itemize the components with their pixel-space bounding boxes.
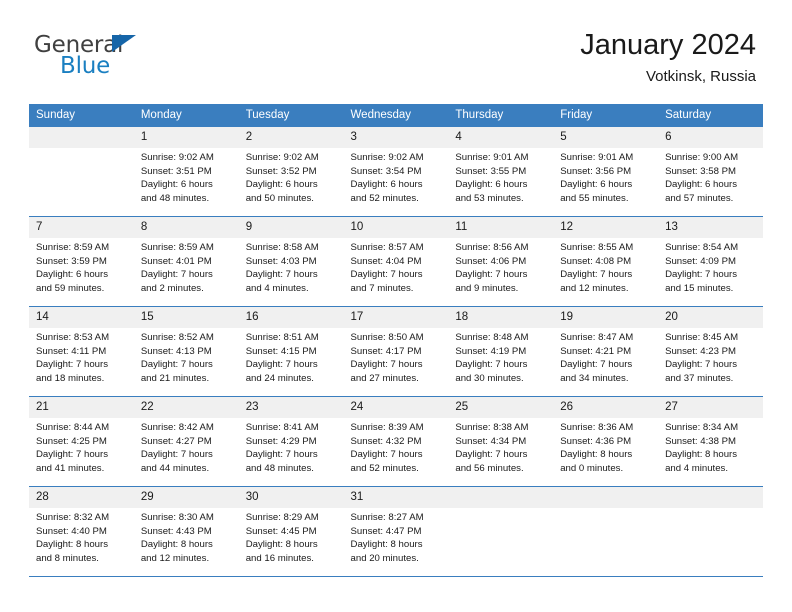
sun-info-line: and 4 minutes. bbox=[665, 462, 757, 476]
sun-info-line: Sunrise: 9:02 AM bbox=[246, 151, 338, 165]
day-cell-content: 31Sunrise: 8:27 AMSunset: 4:47 PMDayligh… bbox=[344, 487, 449, 575]
day-cell-content: 27Sunrise: 8:34 AMSunset: 4:38 PMDayligh… bbox=[658, 397, 763, 485]
calendar-day-cell bbox=[448, 487, 553, 577]
calendar-day-cell[interactable]: 28Sunrise: 8:32 AMSunset: 4:40 PMDayligh… bbox=[29, 487, 134, 577]
sun-info: Sunrise: 9:02 AMSunset: 3:51 PMDaylight:… bbox=[134, 148, 239, 205]
weekday-header-sunday: Sunday bbox=[29, 104, 134, 127]
calendar-day-cell[interactable]: 9Sunrise: 8:58 AMSunset: 4:03 PMDaylight… bbox=[239, 217, 344, 307]
day-number bbox=[658, 487, 763, 508]
sun-info-line: Daylight: 6 hours bbox=[36, 268, 128, 282]
sun-info-line: Sunrise: 8:51 AM bbox=[246, 331, 338, 345]
weekday-header-monday: Monday bbox=[134, 104, 239, 127]
sun-info-line: Sunrise: 9:01 AM bbox=[560, 151, 652, 165]
sun-info-line: and 48 minutes. bbox=[246, 462, 338, 476]
day-cell-content: 21Sunrise: 8:44 AMSunset: 4:25 PMDayligh… bbox=[29, 397, 134, 485]
day-number: 13 bbox=[658, 217, 763, 238]
sun-info-line: Sunset: 4:03 PM bbox=[246, 255, 338, 269]
sun-info: Sunrise: 8:48 AMSunset: 4:19 PMDaylight:… bbox=[448, 328, 553, 385]
sun-info-line: Sunset: 4:45 PM bbox=[246, 525, 338, 539]
day-number: 24 bbox=[344, 397, 449, 418]
page-title: January 2024 bbox=[580, 28, 756, 62]
day-number: 22 bbox=[134, 397, 239, 418]
sun-info-line: and 4 minutes. bbox=[246, 282, 338, 296]
day-cell-content: 6Sunrise: 9:00 AMSunset: 3:58 PMDaylight… bbox=[658, 127, 763, 215]
calendar-week-row: 28Sunrise: 8:32 AMSunset: 4:40 PMDayligh… bbox=[29, 487, 763, 577]
calendar-day-cell[interactable]: 23Sunrise: 8:41 AMSunset: 4:29 PMDayligh… bbox=[239, 397, 344, 487]
logo-text-blue: Blue bbox=[60, 53, 110, 79]
calendar-day-cell[interactable]: 12Sunrise: 8:55 AMSunset: 4:08 PMDayligh… bbox=[553, 217, 658, 307]
sun-info-line: Sunset: 3:54 PM bbox=[351, 165, 443, 179]
sun-info-line: Sunset: 4:19 PM bbox=[455, 345, 547, 359]
sun-info-line: and 48 minutes. bbox=[141, 192, 233, 206]
sun-info: Sunrise: 8:32 AMSunset: 4:40 PMDaylight:… bbox=[29, 508, 134, 565]
sun-info-line: Daylight: 7 hours bbox=[455, 358, 547, 372]
sun-info-line: Sunrise: 9:02 AM bbox=[351, 151, 443, 165]
calendar-day-cell[interactable]: 8Sunrise: 8:59 AMSunset: 4:01 PMDaylight… bbox=[134, 217, 239, 307]
sun-info-line: Daylight: 7 hours bbox=[36, 358, 128, 372]
sun-info-line: Sunset: 4:17 PM bbox=[351, 345, 443, 359]
calendar-day-cell[interactable]: 7Sunrise: 8:59 AMSunset: 3:59 PMDaylight… bbox=[29, 217, 134, 307]
sun-info: Sunrise: 8:59 AMSunset: 3:59 PMDaylight:… bbox=[29, 238, 134, 295]
sun-info-line: Daylight: 7 hours bbox=[141, 268, 233, 282]
day-number: 3 bbox=[344, 127, 449, 148]
day-number bbox=[448, 487, 553, 508]
sun-info-line: Daylight: 7 hours bbox=[36, 448, 128, 462]
logo-triangle-icon bbox=[112, 35, 136, 52]
sun-info-line: Sunrise: 8:32 AM bbox=[36, 511, 128, 525]
day-number: 19 bbox=[553, 307, 658, 328]
day-cell-content: 16Sunrise: 8:51 AMSunset: 4:15 PMDayligh… bbox=[239, 307, 344, 395]
sun-info-line: Daylight: 7 hours bbox=[246, 448, 338, 462]
day-cell-content: 5Sunrise: 9:01 AMSunset: 3:56 PMDaylight… bbox=[553, 127, 658, 215]
calendar-day-cell[interactable]: 29Sunrise: 8:30 AMSunset: 4:43 PMDayligh… bbox=[134, 487, 239, 577]
sun-info: Sunrise: 8:45 AMSunset: 4:23 PMDaylight:… bbox=[658, 328, 763, 385]
sun-info: Sunrise: 8:57 AMSunset: 4:04 PMDaylight:… bbox=[344, 238, 449, 295]
page-header: General Blue January 2024 Votkinsk, Russ… bbox=[0, 0, 792, 96]
sun-info: Sunrise: 8:29 AMSunset: 4:45 PMDaylight:… bbox=[239, 508, 344, 565]
sun-info: Sunrise: 8:42 AMSunset: 4:27 PMDaylight:… bbox=[134, 418, 239, 475]
sun-info-line: Sunrise: 8:56 AM bbox=[455, 241, 547, 255]
sun-info-line: Sunset: 4:32 PM bbox=[351, 435, 443, 449]
sun-info-line: Sunset: 4:09 PM bbox=[665, 255, 757, 269]
sun-info-line: Sunset: 4:11 PM bbox=[36, 345, 128, 359]
day-number: 26 bbox=[553, 397, 658, 418]
calendar-day-cell[interactable]: 31Sunrise: 8:27 AMSunset: 4:47 PMDayligh… bbox=[344, 487, 449, 577]
sun-info-line: and 15 minutes. bbox=[665, 282, 757, 296]
day-number: 4 bbox=[448, 127, 553, 148]
day-cell-content: 11Sunrise: 8:56 AMSunset: 4:06 PMDayligh… bbox=[448, 217, 553, 305]
sun-info-line: and 34 minutes. bbox=[560, 372, 652, 386]
sun-info-line: and 30 minutes. bbox=[455, 372, 547, 386]
day-cell-content: 23Sunrise: 8:41 AMSunset: 4:29 PMDayligh… bbox=[239, 397, 344, 485]
calendar-day-cell[interactable]: 15Sunrise: 8:52 AMSunset: 4:13 PMDayligh… bbox=[134, 307, 239, 397]
calendar-table: Sunday Monday Tuesday Wednesday Thursday… bbox=[29, 104, 763, 577]
calendar-day-cell bbox=[658, 487, 763, 577]
sun-info-line: Daylight: 7 hours bbox=[665, 268, 757, 282]
sun-info: Sunrise: 9:01 AMSunset: 3:55 PMDaylight:… bbox=[448, 148, 553, 205]
calendar-day-cell[interactable]: 4Sunrise: 9:01 AMSunset: 3:55 PMDaylight… bbox=[448, 127, 553, 217]
calendar-day-cell[interactable]: 11Sunrise: 8:56 AMSunset: 4:06 PMDayligh… bbox=[448, 217, 553, 307]
sun-info-line: Sunset: 4:34 PM bbox=[455, 435, 547, 449]
sun-info-line: Daylight: 6 hours bbox=[246, 178, 338, 192]
sun-info-line: Sunset: 4:40 PM bbox=[36, 525, 128, 539]
calendar-day-cell[interactable]: 27Sunrise: 8:34 AMSunset: 4:38 PMDayligh… bbox=[658, 397, 763, 487]
day-number: 16 bbox=[239, 307, 344, 328]
day-cell-content: 13Sunrise: 8:54 AMSunset: 4:09 PMDayligh… bbox=[658, 217, 763, 305]
calendar-day-cell[interactable]: 1Sunrise: 9:02 AMSunset: 3:51 PMDaylight… bbox=[134, 127, 239, 217]
sun-info-line: Sunset: 4:13 PM bbox=[141, 345, 233, 359]
sun-info-line: Daylight: 8 hours bbox=[246, 538, 338, 552]
sun-info-line: and 52 minutes. bbox=[351, 462, 443, 476]
calendar-week-row: 14Sunrise: 8:53 AMSunset: 4:11 PMDayligh… bbox=[29, 307, 763, 397]
day-number: 7 bbox=[29, 217, 134, 238]
sun-info: Sunrise: 8:53 AMSunset: 4:11 PMDaylight:… bbox=[29, 328, 134, 385]
sun-info-line: Sunrise: 8:50 AM bbox=[351, 331, 443, 345]
sun-info-line: and 59 minutes. bbox=[36, 282, 128, 296]
sun-info-line: Daylight: 7 hours bbox=[560, 268, 652, 282]
sun-info-line: Sunset: 4:25 PM bbox=[36, 435, 128, 449]
calendar-day-cell[interactable]: 18Sunrise: 8:48 AMSunset: 4:19 PMDayligh… bbox=[448, 307, 553, 397]
sun-info: Sunrise: 8:58 AMSunset: 4:03 PMDaylight:… bbox=[239, 238, 344, 295]
day-cell-content: 3Sunrise: 9:02 AMSunset: 3:54 PMDaylight… bbox=[344, 127, 449, 215]
sun-info-line: Sunrise: 8:48 AM bbox=[455, 331, 547, 345]
day-number: 20 bbox=[658, 307, 763, 328]
sun-info-line: Sunset: 4:38 PM bbox=[665, 435, 757, 449]
day-number: 21 bbox=[29, 397, 134, 418]
sun-info-line: Sunset: 3:59 PM bbox=[36, 255, 128, 269]
day-cell-content: 29Sunrise: 8:30 AMSunset: 4:43 PMDayligh… bbox=[134, 487, 239, 575]
day-number: 2 bbox=[239, 127, 344, 148]
sun-info-line: Sunset: 3:52 PM bbox=[246, 165, 338, 179]
sun-info-line: and 41 minutes. bbox=[36, 462, 128, 476]
calendar-day-cell[interactable]: 5Sunrise: 9:01 AMSunset: 3:56 PMDaylight… bbox=[553, 127, 658, 217]
day-cell-content: 12Sunrise: 8:55 AMSunset: 4:08 PMDayligh… bbox=[553, 217, 658, 305]
day-cell-content: 20Sunrise: 8:45 AMSunset: 4:23 PMDayligh… bbox=[658, 307, 763, 395]
calendar-day-cell[interactable]: 24Sunrise: 8:39 AMSunset: 4:32 PMDayligh… bbox=[344, 397, 449, 487]
sun-info: Sunrise: 8:50 AMSunset: 4:17 PMDaylight:… bbox=[344, 328, 449, 385]
sun-info-line: Sunrise: 8:52 AM bbox=[141, 331, 233, 345]
sun-info-line: Sunrise: 8:58 AM bbox=[246, 241, 338, 255]
sun-info-line: and 44 minutes. bbox=[141, 462, 233, 476]
sun-info-line: Sunrise: 8:42 AM bbox=[141, 421, 233, 435]
sun-info-line: Daylight: 6 hours bbox=[351, 178, 443, 192]
sun-info: Sunrise: 8:55 AMSunset: 4:08 PMDaylight:… bbox=[553, 238, 658, 295]
sun-info-line: Sunset: 3:58 PM bbox=[665, 165, 757, 179]
sun-info-line: Sunrise: 9:01 AM bbox=[455, 151, 547, 165]
calendar-day-cell bbox=[29, 127, 134, 217]
sun-info-line: Sunrise: 8:27 AM bbox=[351, 511, 443, 525]
sun-info-line: Sunrise: 8:30 AM bbox=[141, 511, 233, 525]
calendar-day-cell[interactable]: 19Sunrise: 8:47 AMSunset: 4:21 PMDayligh… bbox=[553, 307, 658, 397]
title-block: January 2024 Votkinsk, Russia bbox=[580, 28, 756, 87]
calendar-day-cell[interactable]: 13Sunrise: 8:54 AMSunset: 4:09 PMDayligh… bbox=[658, 217, 763, 307]
day-cell-content: 8Sunrise: 8:59 AMSunset: 4:01 PMDaylight… bbox=[134, 217, 239, 305]
calendar-day-cell[interactable]: 16Sunrise: 8:51 AMSunset: 4:15 PMDayligh… bbox=[239, 307, 344, 397]
calendar-day-cell[interactable]: 14Sunrise: 8:53 AMSunset: 4:11 PMDayligh… bbox=[29, 307, 134, 397]
day-cell-content: 30Sunrise: 8:29 AMSunset: 4:45 PMDayligh… bbox=[239, 487, 344, 575]
sun-info-line: Sunrise: 8:38 AM bbox=[455, 421, 547, 435]
day-number: 5 bbox=[553, 127, 658, 148]
sun-info-line: and 20 minutes. bbox=[351, 552, 443, 566]
day-cell-content: 9Sunrise: 8:58 AMSunset: 4:03 PMDaylight… bbox=[239, 217, 344, 305]
sun-info-line: Daylight: 7 hours bbox=[351, 358, 443, 372]
sun-info-line: Sunrise: 9:02 AM bbox=[141, 151, 233, 165]
sun-info-line: Sunset: 4:36 PM bbox=[560, 435, 652, 449]
sun-info-line: Sunset: 4:15 PM bbox=[246, 345, 338, 359]
sun-info-line: Daylight: 6 hours bbox=[455, 178, 547, 192]
sun-info-line: Sunset: 4:43 PM bbox=[141, 525, 233, 539]
sun-info-line: Daylight: 8 hours bbox=[141, 538, 233, 552]
calendar-day-cell[interactable]: 22Sunrise: 8:42 AMSunset: 4:27 PMDayligh… bbox=[134, 397, 239, 487]
sun-info: Sunrise: 8:41 AMSunset: 4:29 PMDaylight:… bbox=[239, 418, 344, 475]
calendar-week-row: 7Sunrise: 8:59 AMSunset: 3:59 PMDaylight… bbox=[29, 217, 763, 307]
day-number: 9 bbox=[239, 217, 344, 238]
sun-info-line: and 53 minutes. bbox=[455, 192, 547, 206]
day-cell-content: 7Sunrise: 8:59 AMSunset: 3:59 PMDaylight… bbox=[29, 217, 134, 305]
sun-info-line: Sunset: 4:06 PM bbox=[455, 255, 547, 269]
sun-info-line: and 16 minutes. bbox=[246, 552, 338, 566]
sun-info-line: Sunrise: 8:44 AM bbox=[36, 421, 128, 435]
weekday-header-friday: Friday bbox=[553, 104, 658, 127]
sun-info-line: Sunset: 4:01 PM bbox=[141, 255, 233, 269]
calendar-day-cell[interactable]: 17Sunrise: 8:50 AMSunset: 4:17 PMDayligh… bbox=[344, 307, 449, 397]
day-number: 15 bbox=[134, 307, 239, 328]
sun-info-line: Sunrise: 9:00 AM bbox=[665, 151, 757, 165]
sun-info: Sunrise: 9:02 AMSunset: 3:52 PMDaylight:… bbox=[239, 148, 344, 205]
sun-info: Sunrise: 8:27 AMSunset: 4:47 PMDaylight:… bbox=[344, 508, 449, 565]
weekday-header-saturday: Saturday bbox=[658, 104, 763, 127]
day-cell-content: 10Sunrise: 8:57 AMSunset: 4:04 PMDayligh… bbox=[344, 217, 449, 305]
sun-info-line: and 8 minutes. bbox=[36, 552, 128, 566]
sun-info-line: Daylight: 7 hours bbox=[246, 268, 338, 282]
sun-info-line: Sunrise: 8:55 AM bbox=[560, 241, 652, 255]
sun-info-line: and 12 minutes. bbox=[560, 282, 652, 296]
day-number: 28 bbox=[29, 487, 134, 508]
sun-info-line: Sunrise: 8:57 AM bbox=[351, 241, 443, 255]
sun-info-line: Sunrise: 8:34 AM bbox=[665, 421, 757, 435]
sun-info-line: Daylight: 7 hours bbox=[560, 358, 652, 372]
sun-info-line: and 21 minutes. bbox=[141, 372, 233, 386]
day-cell-content bbox=[658, 487, 763, 575]
sun-info-line: Sunset: 4:08 PM bbox=[560, 255, 652, 269]
sun-info-line: Daylight: 8 hours bbox=[36, 538, 128, 552]
day-number: 18 bbox=[448, 307, 553, 328]
day-number: 25 bbox=[448, 397, 553, 418]
calendar-week-row: 21Sunrise: 8:44 AMSunset: 4:25 PMDayligh… bbox=[29, 397, 763, 487]
sun-info-line: Sunset: 4:29 PM bbox=[246, 435, 338, 449]
sun-info-line: and 52 minutes. bbox=[351, 192, 443, 206]
calendar-day-cell[interactable]: 30Sunrise: 8:29 AMSunset: 4:45 PMDayligh… bbox=[239, 487, 344, 577]
day-number: 1 bbox=[134, 127, 239, 148]
day-cell-content: 4Sunrise: 9:01 AMSunset: 3:55 PMDaylight… bbox=[448, 127, 553, 215]
sun-info-line: Daylight: 8 hours bbox=[351, 538, 443, 552]
day-cell-content bbox=[553, 487, 658, 575]
sun-info: Sunrise: 8:34 AMSunset: 4:38 PMDaylight:… bbox=[658, 418, 763, 475]
day-number: 10 bbox=[344, 217, 449, 238]
day-number: 31 bbox=[344, 487, 449, 508]
sun-info-line: and 55 minutes. bbox=[560, 192, 652, 206]
sun-info-line: Daylight: 7 hours bbox=[351, 448, 443, 462]
day-number: 30 bbox=[239, 487, 344, 508]
day-number: 12 bbox=[553, 217, 658, 238]
sun-info: Sunrise: 8:47 AMSunset: 4:21 PMDaylight:… bbox=[553, 328, 658, 385]
calendar-day-cell[interactable]: 2Sunrise: 9:02 AMSunset: 3:52 PMDaylight… bbox=[239, 127, 344, 217]
day-number: 14 bbox=[29, 307, 134, 328]
weekday-header-tuesday: Tuesday bbox=[239, 104, 344, 127]
calendar-day-cell[interactable]: 6Sunrise: 9:00 AMSunset: 3:58 PMDaylight… bbox=[658, 127, 763, 217]
sun-info-line: and 12 minutes. bbox=[141, 552, 233, 566]
sun-info: Sunrise: 8:36 AMSunset: 4:36 PMDaylight:… bbox=[553, 418, 658, 475]
sun-info-line: and 18 minutes. bbox=[36, 372, 128, 386]
sun-info: Sunrise: 8:38 AMSunset: 4:34 PMDaylight:… bbox=[448, 418, 553, 475]
sun-info-line: Daylight: 7 hours bbox=[455, 448, 547, 462]
weekday-header-wednesday: Wednesday bbox=[344, 104, 449, 127]
sun-info: Sunrise: 8:30 AMSunset: 4:43 PMDaylight:… bbox=[134, 508, 239, 565]
day-number: 27 bbox=[658, 397, 763, 418]
day-cell-content: 24Sunrise: 8:39 AMSunset: 4:32 PMDayligh… bbox=[344, 397, 449, 485]
day-cell-content: 25Sunrise: 8:38 AMSunset: 4:34 PMDayligh… bbox=[448, 397, 553, 485]
sun-info: Sunrise: 8:51 AMSunset: 4:15 PMDaylight:… bbox=[239, 328, 344, 385]
sun-info: Sunrise: 8:44 AMSunset: 4:25 PMDaylight:… bbox=[29, 418, 134, 475]
sun-info-line: and 2 minutes. bbox=[141, 282, 233, 296]
sun-info: Sunrise: 8:56 AMSunset: 4:06 PMDaylight:… bbox=[448, 238, 553, 295]
sun-info-line: and 9 minutes. bbox=[455, 282, 547, 296]
sun-info-line: Sunrise: 8:45 AM bbox=[665, 331, 757, 345]
calendar-day-cell bbox=[553, 487, 658, 577]
day-cell-content: 19Sunrise: 8:47 AMSunset: 4:21 PMDayligh… bbox=[553, 307, 658, 395]
sun-info-line: Sunrise: 8:29 AM bbox=[246, 511, 338, 525]
sun-info-line: Sunrise: 8:41 AM bbox=[246, 421, 338, 435]
sun-info: Sunrise: 9:01 AMSunset: 3:56 PMDaylight:… bbox=[553, 148, 658, 205]
sun-info-line: Daylight: 7 hours bbox=[141, 448, 233, 462]
day-cell-content: 1Sunrise: 9:02 AMSunset: 3:51 PMDaylight… bbox=[134, 127, 239, 215]
calendar-page: General Blue January 2024 Votkinsk, Russ… bbox=[0, 0, 792, 612]
day-number bbox=[29, 127, 134, 148]
sun-info-line: Daylight: 7 hours bbox=[665, 358, 757, 372]
weekday-header-thursday: Thursday bbox=[448, 104, 553, 127]
sun-info-line: Daylight: 8 hours bbox=[560, 448, 652, 462]
calendar-week-row: 1Sunrise: 9:02 AMSunset: 3:51 PMDaylight… bbox=[29, 127, 763, 217]
sun-info-line: and 0 minutes. bbox=[560, 462, 652, 476]
sun-info-line: Sunrise: 8:53 AM bbox=[36, 331, 128, 345]
day-cell-content: 2Sunrise: 9:02 AMSunset: 3:52 PMDaylight… bbox=[239, 127, 344, 215]
sun-info-line: Daylight: 6 hours bbox=[141, 178, 233, 192]
day-cell-content: 17Sunrise: 8:50 AMSunset: 4:17 PMDayligh… bbox=[344, 307, 449, 395]
day-number: 29 bbox=[134, 487, 239, 508]
sun-info-line: Daylight: 7 hours bbox=[455, 268, 547, 282]
day-number: 11 bbox=[448, 217, 553, 238]
day-cell-content bbox=[29, 127, 134, 215]
day-cell-content: 28Sunrise: 8:32 AMSunset: 4:40 PMDayligh… bbox=[29, 487, 134, 575]
sun-info-line: Sunset: 4:47 PM bbox=[351, 525, 443, 539]
sun-info-line: and 24 minutes. bbox=[246, 372, 338, 386]
calendar-body: 1Sunrise: 9:02 AMSunset: 3:51 PMDaylight… bbox=[29, 127, 763, 577]
sun-info-line: Sunset: 3:51 PM bbox=[141, 165, 233, 179]
sun-info-line: Sunrise: 8:47 AM bbox=[560, 331, 652, 345]
calendar-day-cell[interactable]: 25Sunrise: 8:38 AMSunset: 4:34 PMDayligh… bbox=[448, 397, 553, 487]
sun-info: Sunrise: 8:39 AMSunset: 4:32 PMDaylight:… bbox=[344, 418, 449, 475]
sun-info-line: Sunset: 4:04 PM bbox=[351, 255, 443, 269]
sun-info-line: and 27 minutes. bbox=[351, 372, 443, 386]
sun-info-line: Sunrise: 8:54 AM bbox=[665, 241, 757, 255]
sun-info-line: Sunset: 4:27 PM bbox=[141, 435, 233, 449]
day-number: 6 bbox=[658, 127, 763, 148]
day-number: 23 bbox=[239, 397, 344, 418]
sun-info-line: Daylight: 8 hours bbox=[665, 448, 757, 462]
sun-info: Sunrise: 9:00 AMSunset: 3:58 PMDaylight:… bbox=[658, 148, 763, 205]
sun-info-line: Sunset: 3:56 PM bbox=[560, 165, 652, 179]
sun-info-line: Daylight: 7 hours bbox=[351, 268, 443, 282]
day-number: 8 bbox=[134, 217, 239, 238]
sun-info-line: Daylight: 6 hours bbox=[560, 178, 652, 192]
day-cell-content bbox=[448, 487, 553, 575]
sun-info-line: Sunset: 4:23 PM bbox=[665, 345, 757, 359]
sun-info: Sunrise: 8:54 AMSunset: 4:09 PMDaylight:… bbox=[658, 238, 763, 295]
sun-info-line: Daylight: 7 hours bbox=[141, 358, 233, 372]
day-cell-content: 26Sunrise: 8:36 AMSunset: 4:36 PMDayligh… bbox=[553, 397, 658, 485]
page-subtitle: Votkinsk, Russia bbox=[580, 67, 756, 87]
day-number: 17 bbox=[344, 307, 449, 328]
day-cell-content: 18Sunrise: 8:48 AMSunset: 4:19 PMDayligh… bbox=[448, 307, 553, 395]
sun-info: Sunrise: 8:52 AMSunset: 4:13 PMDaylight:… bbox=[134, 328, 239, 385]
calendar-header-row: Sunday Monday Tuesday Wednesday Thursday… bbox=[29, 104, 763, 127]
calendar-day-cell[interactable]: 26Sunrise: 8:36 AMSunset: 4:36 PMDayligh… bbox=[553, 397, 658, 487]
sun-info-line: and 7 minutes. bbox=[351, 282, 443, 296]
sun-info-line: and 56 minutes. bbox=[455, 462, 547, 476]
calendar-grid: Sunday Monday Tuesday Wednesday Thursday… bbox=[29, 104, 763, 577]
sun-info-line: Sunrise: 8:59 AM bbox=[36, 241, 128, 255]
sun-info-line: Daylight: 6 hours bbox=[665, 178, 757, 192]
calendar-day-cell[interactable]: 20Sunrise: 8:45 AMSunset: 4:23 PMDayligh… bbox=[658, 307, 763, 397]
day-cell-content: 15Sunrise: 8:52 AMSunset: 4:13 PMDayligh… bbox=[134, 307, 239, 395]
sun-info-line: Sunset: 3:55 PM bbox=[455, 165, 547, 179]
sun-info-line: and 57 minutes. bbox=[665, 192, 757, 206]
sun-info-line: Sunset: 4:21 PM bbox=[560, 345, 652, 359]
sun-info-line: and 50 minutes. bbox=[246, 192, 338, 206]
sun-info: Sunrise: 8:59 AMSunset: 4:01 PMDaylight:… bbox=[134, 238, 239, 295]
sun-info-line: Sunrise: 8:36 AM bbox=[560, 421, 652, 435]
sun-info-line: Sunrise: 8:59 AM bbox=[141, 241, 233, 255]
sun-info: Sunrise: 9:02 AMSunset: 3:54 PMDaylight:… bbox=[344, 148, 449, 205]
calendar-day-cell[interactable]: 21Sunrise: 8:44 AMSunset: 4:25 PMDayligh… bbox=[29, 397, 134, 487]
general-blue-logo: General Blue bbox=[34, 32, 214, 84]
calendar-day-cell[interactable]: 3Sunrise: 9:02 AMSunset: 3:54 PMDaylight… bbox=[344, 127, 449, 217]
day-cell-content: 22Sunrise: 8:42 AMSunset: 4:27 PMDayligh… bbox=[134, 397, 239, 485]
calendar-day-cell[interactable]: 10Sunrise: 8:57 AMSunset: 4:04 PMDayligh… bbox=[344, 217, 449, 307]
day-number bbox=[553, 487, 658, 508]
sun-info-line: Sunrise: 8:39 AM bbox=[351, 421, 443, 435]
sun-info-line: and 37 minutes. bbox=[665, 372, 757, 386]
day-cell-content: 14Sunrise: 8:53 AMSunset: 4:11 PMDayligh… bbox=[29, 307, 134, 395]
sun-info-line: Daylight: 7 hours bbox=[246, 358, 338, 372]
